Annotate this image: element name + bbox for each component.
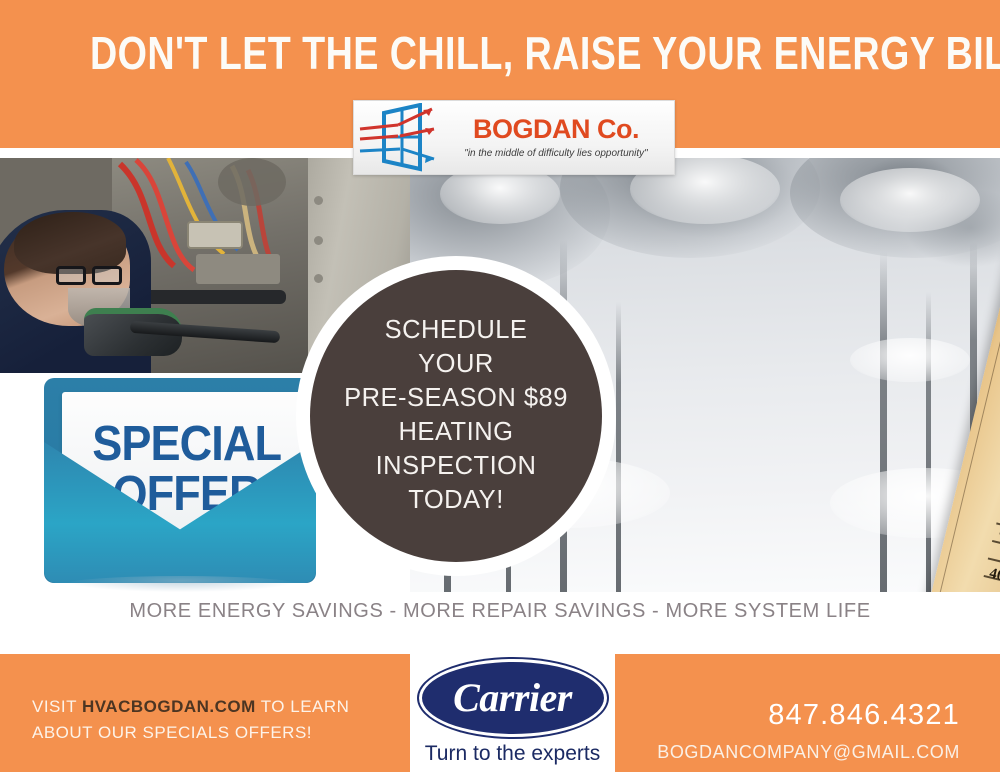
bogdan-logo-name: BOGDAN Co. [446, 116, 666, 143]
bogdan-logo[interactable]: BOGDAN Co. "in the middle of difficulty … [353, 100, 675, 175]
envelope-shadow [66, 576, 296, 592]
carrier-logo[interactable]: Carrier Turn to the experts [410, 650, 615, 772]
schedule-badge[interactable]: SCHEDULE YOUR PRE-SEASON $89 HEATING INS… [296, 256, 616, 576]
special-offer-envelope[interactable]: SPECIAL OFFER [22, 370, 340, 602]
badge-line-2: YOUR [418, 348, 494, 382]
badge-line-1: SCHEDULE [385, 314, 528, 348]
website-url[interactable]: HVACBOGDAN.COM [82, 697, 256, 716]
bogdan-logo-tagline: "in the middle of difficulty lies opport… [452, 147, 661, 159]
visit-website-text: VISIT HVACBOGDAN.COM TO LEARN ABOUT OUR … [32, 694, 392, 747]
visit-line-2: ABOUT OUR SPECIALS OFFERS! [32, 723, 312, 742]
main-image-band: C F [0, 158, 1000, 654]
badge-line-5: INSPECTION [376, 450, 537, 484]
bogdan-logo-mark-icon [354, 103, 446, 173]
visit-prefix: VISIT [32, 697, 82, 716]
special-offer-line1: SPECIAL [93, 420, 282, 468]
visit-suffix: TO LEARN [256, 697, 350, 716]
headline: DON'T LET THE CHILL, RAISE YOUR ENERGY B… [90, 26, 910, 80]
footer-bar: VISIT HVACBOGDAN.COM TO LEARN ABOUT OUR … [0, 654, 1000, 772]
bogdan-logo-text: BOGDAN Co. "in the middle of difficulty … [446, 116, 674, 159]
badge-content: SCHEDULE YOUR PRE-SEASON $89 HEATING INS… [310, 270, 602, 562]
technician-hair [14, 212, 126, 274]
technician-glasses-icon [56, 266, 128, 286]
celsius-tick: 40 [988, 566, 1000, 584]
badge-line-6: TODAY! [408, 484, 504, 518]
carrier-slogan: Turn to the experts [425, 742, 600, 766]
carrier-oval: Carrier [419, 659, 607, 737]
phone-number[interactable]: 847.846.4321 [768, 699, 960, 732]
badge-line-4: HEATING [399, 416, 514, 450]
badge-line-3: PRE-SEASON $89 [344, 382, 568, 416]
email-address[interactable]: BOGDANCOMPANY@GMAIL.COM [657, 742, 960, 763]
carrier-brand: Carrier [453, 674, 572, 721]
benefits-tagline: MORE ENERGY SAVINGS - MORE REPAIR SAVING… [0, 600, 1000, 623]
